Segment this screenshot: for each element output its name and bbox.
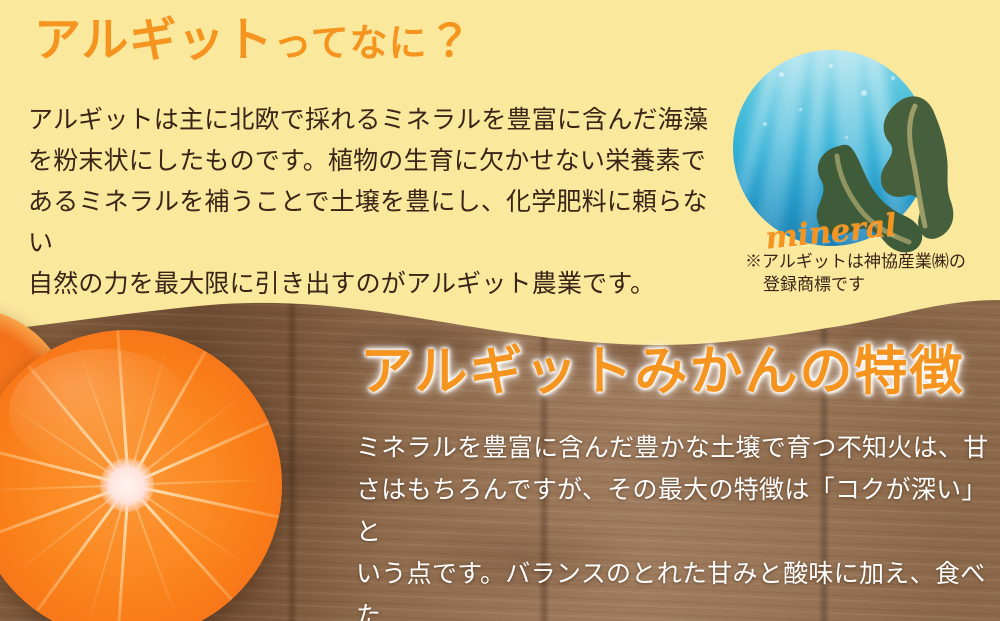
top-body-line: を粉末状にしたものです。植物の生育に欠かせない栄養素で <box>28 141 718 182</box>
top-body-line: アルギットは主に北欧で採れるミネラルを豊富に含んだ海藻 <box>28 100 718 141</box>
top-body-line: あるミネラルを補うことで土壌を豊にし、化学肥料に頼らない <box>28 182 718 264</box>
ocean-badge: mineral <box>733 50 929 246</box>
section-title: アルギットみかんの特徴 <box>360 343 964 401</box>
bottom-body-text: ミネラルを豊富に含んだ豊かな土壌で育つ不知火は、甘 さはもちろんですが、その最大… <box>356 428 996 621</box>
bottom-body-line: いう点です。バランスのとれた甘みと酸味に加え、食べた <box>356 554 996 621</box>
top-body-text: アルギットは主に北欧で採れるミネラルを豊富に含んだ海藻 を粉末状にしたものです。… <box>28 100 718 305</box>
page-title-main: アルギット <box>34 15 274 67</box>
page-title-suffix: ってなに <box>274 23 428 65</box>
trademark-note: ※アルギットは神協産業㈱の 登録商標です <box>745 250 995 296</box>
trademark-note-line2: 登録商標です <box>745 273 995 296</box>
top-body-line: 自然の力を最大限に引き出すのがアルギット農業です。 <box>28 264 718 305</box>
citrus-slice-photo <box>0 300 362 621</box>
page-title-question-mark: ？ <box>428 17 473 66</box>
promo-page: アルギットってなに？ アルギットは主に北欧で採れるミネラルを豊富に含んだ海藻 を… <box>0 0 1000 621</box>
trademark-note-line1: ※アルギットは神協産業㈱の <box>745 252 966 271</box>
bottom-body-line: ミネラルを豊富に含んだ豊かな土壌で育つ不知火は、甘 <box>356 428 996 470</box>
citrus-slice-primary <box>0 330 282 621</box>
citrus-gloss <box>9 349 195 473</box>
page-title: アルギットってなに？ <box>34 16 473 68</box>
bottom-body-line: さはもちろんですが、その最大の特徴は「コクが深い」と <box>356 470 996 554</box>
